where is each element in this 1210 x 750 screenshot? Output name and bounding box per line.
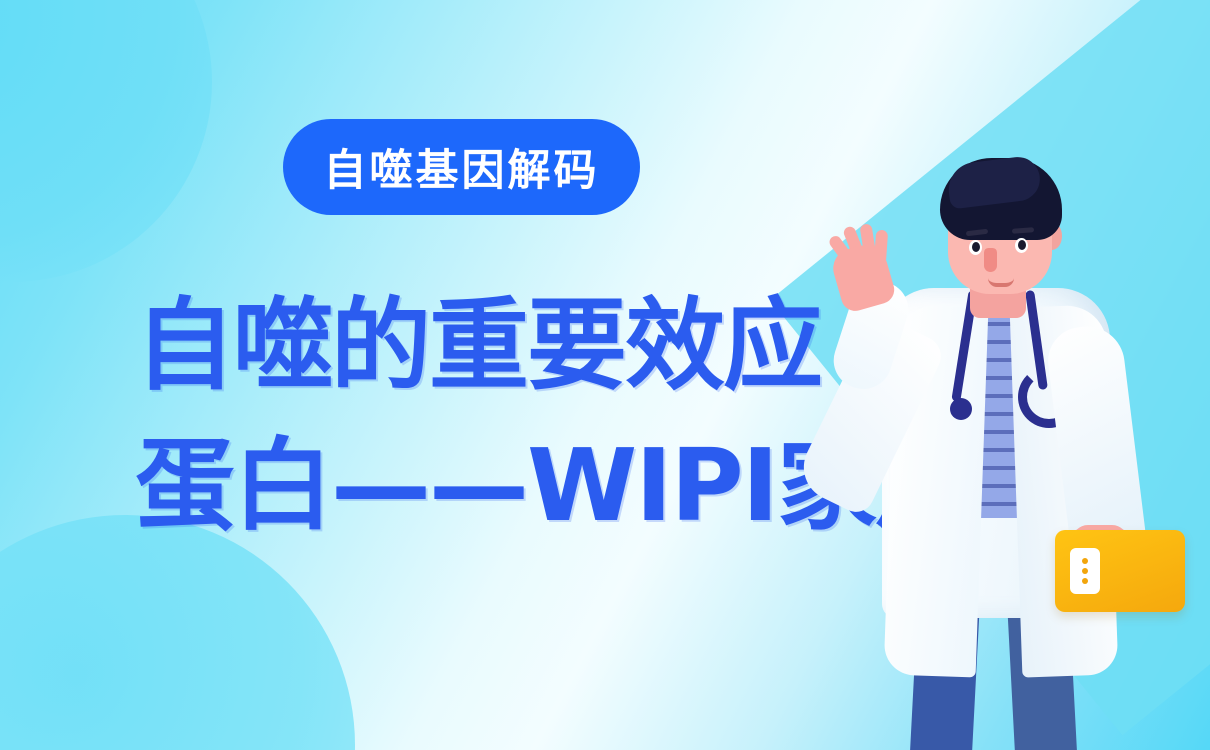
folder-dot-2	[1082, 568, 1088, 574]
stethoscope-bell	[950, 398, 972, 420]
right-pupil	[1018, 240, 1026, 250]
poster-canvas: 自噬基因解码 自噬的重要效应 蛋白——WIPI家族	[0, 0, 1210, 750]
background-circle-top-left	[0, 0, 212, 282]
doctor-illustration	[820, 130, 1170, 750]
topic-badge: 自噬基因解码	[283, 119, 640, 215]
topic-badge-label: 自噬基因解码	[324, 136, 600, 198]
folder-dot-3	[1082, 578, 1088, 584]
folder-label	[1070, 548, 1100, 594]
folder-dot-1	[1082, 558, 1088, 564]
left-pupil	[972, 242, 980, 252]
nose	[984, 248, 997, 272]
